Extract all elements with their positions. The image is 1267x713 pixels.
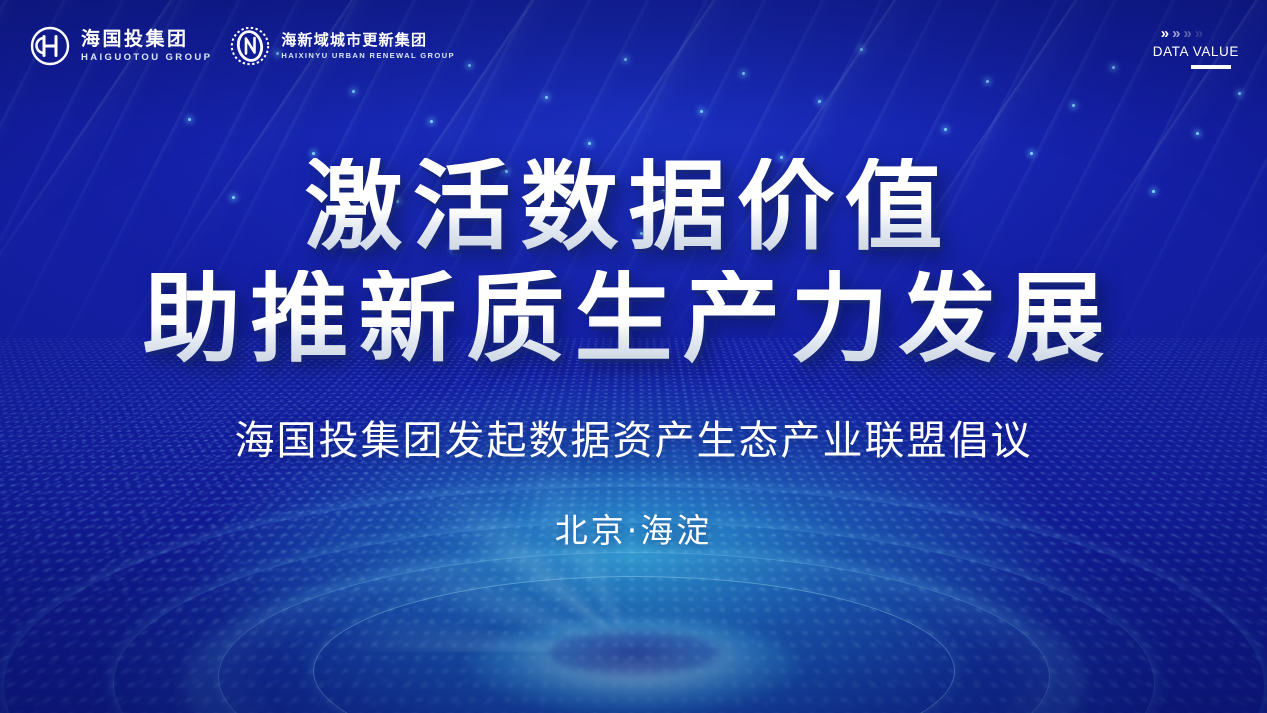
poster-content: 激活数据价值 助推新质生产力发展 海国投集团发起数据资产生态产业联盟倡议 北京·… (0, 0, 1267, 713)
title-line-2: 助推新质生产力发展 (142, 270, 1124, 368)
poster-canvas: 海国投集团 HAIGUOTOU GROUP 海新域城市更新集团 HAIXINYU… (0, 0, 1267, 713)
subtitle: 海国投集团发起数据资产生态产业联盟倡议 (235, 408, 1033, 466)
title-line-1: 激活数据价值 (304, 158, 962, 256)
location-label: 北京·海淀 (555, 504, 713, 552)
